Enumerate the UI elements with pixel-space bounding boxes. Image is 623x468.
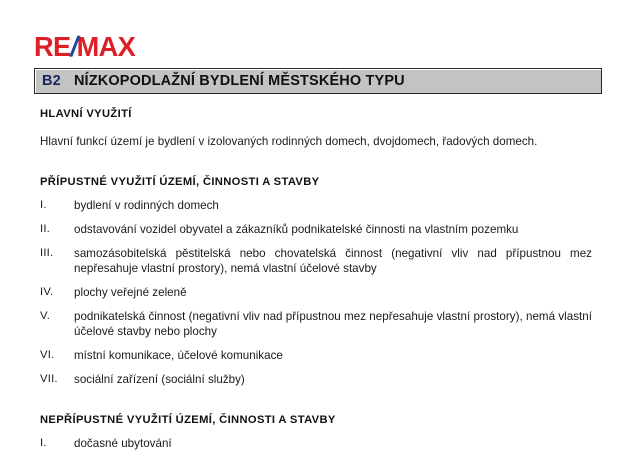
spacer — [40, 121, 592, 135]
spacer — [40, 149, 592, 176]
logo-text-re: RE — [34, 31, 71, 62]
list-item-number: VI. — [40, 348, 74, 363]
remax-logo: RE/MAX — [34, 33, 135, 61]
document-page: RE/MAX B2 NÍZKOPODLAŽNÍ BYDLENÍ MĚSTSKÉH… — [0, 0, 623, 468]
document-body: HLAVNÍ VYUŽITÍ Hlavní funkcí území je by… — [40, 108, 592, 451]
list-item-number: I. — [40, 198, 74, 213]
zone-code-badge: B2 — [42, 73, 61, 89]
list-item: I. bydlení v rodinných domech — [40, 198, 592, 213]
section-heading-nepripustne-vyuziti: NEPŘÍPUSTNÉ VYUŽITÍ ÚZEMÍ, ČINNOSTI A ST… — [40, 414, 592, 427]
list-item-text: sociální zařízení (sociální služby) — [74, 372, 592, 387]
list-item: III. samozásobitelská pěstitelská nebo c… — [40, 246, 592, 276]
list-item: IV. plochy veřejné zeleně — [40, 285, 592, 300]
list-item-text: podnikatelská činnost (negativní vliv na… — [74, 309, 592, 339]
section-paragraph-hlavni-vyuziti: Hlavní funkcí území je bydlení v izolova… — [40, 135, 592, 149]
list-item-number: III. — [40, 246, 74, 261]
list-item-number: VII. — [40, 372, 74, 387]
list-item-text: samozásobitelská pěstitelská nebo chovat… — [74, 246, 592, 276]
list-item: V. podnikatelská činnost (negativní vliv… — [40, 309, 592, 339]
zone-title-bar: B2 NÍZKOPODLAŽNÍ BYDLENÍ MĚSTSKÉHO TYPU — [34, 68, 602, 94]
section-heading-hlavni-vyuziti: HLAVNÍ VYUŽITÍ — [40, 108, 592, 121]
list-item: I. dočasné ubytování — [40, 436, 592, 451]
spacer — [40, 387, 592, 414]
zone-title-text: NÍZKOPODLAŽNÍ BYDLENÍ MĚSTSKÉHO TYPU — [74, 73, 405, 89]
list-item: II. odstavování vozidel obyvatel a zákaz… — [40, 222, 592, 237]
zone-title-bar-inner: B2 NÍZKOPODLAŽNÍ BYDLENÍ MĚSTSKÉHO TYPU — [35, 73, 405, 89]
list-item-text: bydlení v rodinných domech — [74, 198, 592, 213]
list-item: VI. místní komunikace, účelové komunikac… — [40, 348, 592, 363]
list-item-number: IV. — [40, 285, 74, 300]
list-item-text: místní komunikace, účelové komunikace — [74, 348, 592, 363]
list-item-text: dočasné ubytování — [74, 436, 592, 451]
list-item-number: I. — [40, 436, 74, 451]
list-item: VII. sociální zařízení (sociální služby) — [40, 372, 592, 387]
spacer — [40, 189, 592, 198]
list-item-number: V. — [40, 309, 74, 324]
nepripustne-list: I. dočasné ubytování — [40, 436, 592, 451]
list-item-text: odstavování vozidel obyvatel a zákazníků… — [74, 222, 592, 237]
spacer — [40, 427, 592, 436]
logo-text-max: MAX — [77, 31, 136, 62]
list-item-text: plochy veřejné zeleně — [74, 285, 592, 300]
pripustne-list: I. bydlení v rodinných domech II. odstav… — [40, 198, 592, 387]
section-heading-pripustne-vyuziti: PŘÍPUSTNÉ VYUŽITÍ ÚZEMÍ, ČINNOSTI A STAV… — [40, 176, 592, 189]
list-item-number: II. — [40, 222, 74, 237]
